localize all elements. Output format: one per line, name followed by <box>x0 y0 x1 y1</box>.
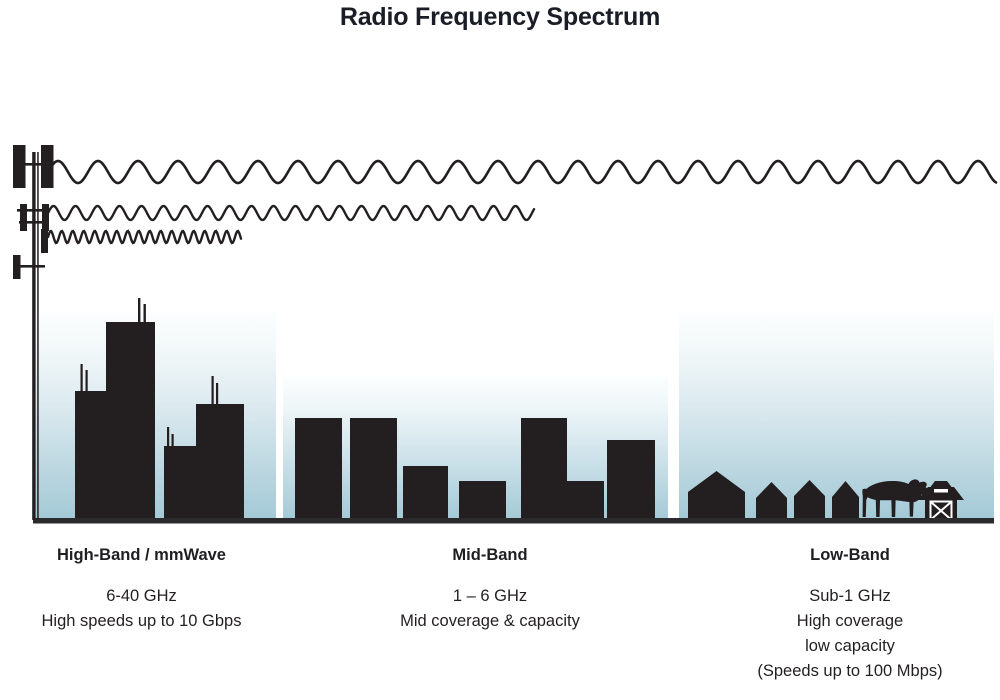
column-mid-band-heading: Mid-Band <box>340 545 640 565</box>
antenna-panel <box>13 145 26 188</box>
antenna-spire <box>167 427 169 447</box>
building <box>521 418 567 520</box>
column-mid-band: Mid-Band 1 – 6 GHz Mid coverage & capaci… <box>340 545 640 634</box>
building <box>196 404 244 520</box>
column-high-band-body: 6-40 GHz High speeds up to 10 Gbps <box>0 584 283 634</box>
antenna-spire <box>172 434 174 447</box>
tower-crossarm <box>17 265 45 268</box>
column-high-band: High-Band / mmWave 6-40 GHz High speeds … <box>0 545 283 634</box>
column-low-band-heading: Low-Band <box>700 545 1000 565</box>
antenna-panel <box>20 204 27 231</box>
antenna-panel <box>41 145 54 188</box>
antenna-spire <box>144 304 146 323</box>
band-captions: High-Band / mmWave 6-40 GHz High speeds … <box>0 545 1000 700</box>
column-low-band-line: Sub-1 GHz <box>700 584 1000 609</box>
antenna-panel <box>13 255 21 279</box>
column-low-band-line: (Speeds up to 100 Mbps) <box>700 659 1000 684</box>
column-high-band-line: 6-40 GHz <box>0 584 283 609</box>
building <box>350 418 397 520</box>
antenna-panel <box>41 229 48 253</box>
column-high-band-line: High speeds up to 10 Gbps <box>0 609 283 634</box>
building <box>106 446 155 520</box>
antenna-spire <box>216 383 218 405</box>
low-frequency-wave <box>48 161 996 183</box>
column-high-band-heading: High-Band / mmWave <box>0 545 283 565</box>
high-frequency-wave <box>48 231 241 243</box>
infographic-canvas: Radio Frequency Spectrum <box>0 0 1000 700</box>
column-mid-band-body: 1 – 6 GHz Mid coverage & capacity <box>340 584 640 634</box>
mid-frequency-wave <box>48 206 534 220</box>
antenna-panel <box>42 204 49 231</box>
ground-line <box>33 518 994 524</box>
building <box>295 418 342 520</box>
radio-waves <box>48 161 996 243</box>
antenna-spire <box>212 376 214 405</box>
column-low-band-line: low capacity <box>700 634 1000 659</box>
column-mid-band-line: Mid coverage & capacity <box>340 609 640 634</box>
column-low-band-line: High coverage <box>700 609 1000 634</box>
tower-mast <box>32 152 35 520</box>
column-mid-band-line: 1 – 6 GHz <box>340 584 640 609</box>
building <box>567 481 604 520</box>
tower-mast <box>37 152 39 520</box>
building <box>607 440 655 520</box>
barn-loft-window <box>934 489 948 493</box>
column-low-band: Low-Band Sub-1 GHz High coverage low cap… <box>700 545 1000 684</box>
building <box>403 466 448 520</box>
column-low-band-body: Sub-1 GHz High coverage low capacity (Sp… <box>700 584 1000 684</box>
antenna-spire <box>81 364 83 392</box>
antenna-spire <box>86 370 88 392</box>
building <box>459 481 506 520</box>
antenna-spire <box>138 298 140 323</box>
